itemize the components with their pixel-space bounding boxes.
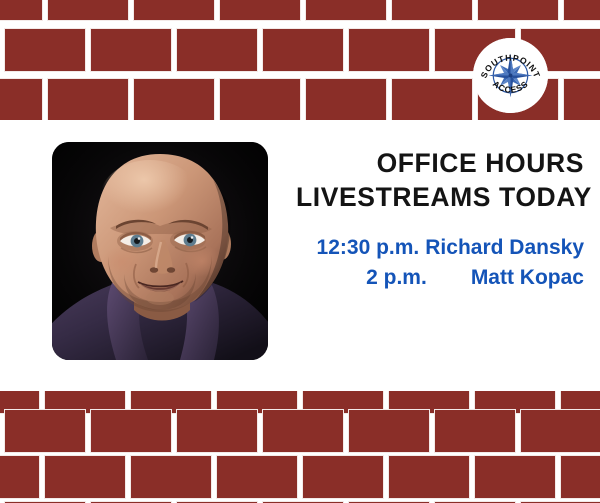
brick — [4, 409, 86, 453]
brick — [219, 78, 301, 120]
brick — [474, 455, 556, 499]
brick — [90, 28, 172, 72]
brick — [391, 78, 473, 120]
schedule-item: 12:30 p.m. Richard Dansky — [296, 233, 584, 263]
brick — [262, 409, 344, 453]
brick — [563, 0, 600, 21]
brick — [0, 78, 43, 120]
brick — [305, 0, 387, 21]
announcement-text: OFFICE HOURS LIVESTREAMS TODAY 12:30 p.m… — [296, 146, 584, 293]
schedule-speaker-name: Richard Dansky — [425, 233, 584, 263]
brick — [4, 28, 86, 72]
brick — [0, 0, 43, 21]
brick-row — [0, 0, 561, 21]
brick — [560, 455, 600, 499]
brick-row — [4, 409, 600, 453]
schedule-time: 2 p.m. — [366, 263, 427, 293]
brick — [133, 78, 215, 120]
brick — [305, 78, 387, 120]
brick — [90, 409, 172, 453]
brick-row — [0, 455, 558, 499]
brick — [348, 409, 430, 453]
brick — [47, 78, 129, 120]
brick — [133, 0, 215, 21]
brick — [302, 455, 384, 499]
brick — [44, 455, 126, 499]
brick-wall-bottom — [0, 391, 600, 503]
schedule-time: 12:30 p.m. — [317, 233, 420, 263]
headline-line-2: LIVESTREAMS TODAY — [296, 180, 584, 214]
brick — [262, 28, 344, 72]
brick — [176, 28, 258, 72]
brick — [520, 409, 600, 453]
announcement-content: OFFICE HOURS LIVESTREAMS TODAY 12:30 p.m… — [0, 120, 600, 391]
brick — [216, 455, 298, 499]
brick — [0, 455, 40, 499]
brick — [563, 78, 600, 120]
livestream-schedule: 12:30 p.m. Richard Dansky 2 p.m. Matt Ko… — [296, 233, 584, 293]
speaker-portrait — [52, 142, 268, 360]
brick — [391, 0, 473, 21]
brick — [477, 0, 559, 21]
brick — [388, 455, 470, 499]
brick — [434, 409, 516, 453]
brick — [47, 0, 129, 21]
brick — [176, 409, 258, 453]
brick — [219, 0, 301, 21]
southpoint-access-logo: SOUTHPOINT ACCESS — [473, 38, 548, 113]
brick — [348, 28, 430, 72]
schedule-speaker-name: Matt Kopac — [471, 263, 584, 293]
schedule-item: 2 p.m. Matt Kopac — [296, 263, 584, 293]
brick — [130, 455, 212, 499]
headline-line-1: OFFICE HOURS — [296, 146, 584, 180]
